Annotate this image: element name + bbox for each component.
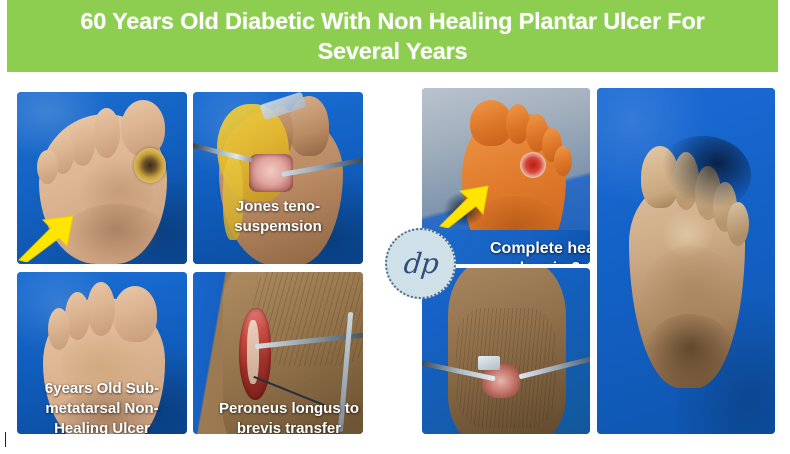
heel-shading xyxy=(645,314,735,388)
photo-peroneus-transfer[interactable]: Peroneus longus to brevis transfer xyxy=(193,272,363,434)
photo-scene xyxy=(193,272,363,434)
photo-scene xyxy=(193,92,363,264)
plantar-ulcer xyxy=(134,148,166,183)
pointer-arrow-icon xyxy=(17,212,83,262)
pointer-arrow-icon xyxy=(438,184,494,228)
photo-scene xyxy=(422,268,590,434)
tendon-strip xyxy=(223,156,243,240)
photo-preop-plantar-ulcer[interactable] xyxy=(17,92,187,264)
toe-fifth xyxy=(727,202,749,246)
toe-second xyxy=(87,282,115,336)
page-title: 60 Years Old Diabetic With Non Healing P… xyxy=(41,6,744,66)
photo-scene xyxy=(597,88,775,434)
image-collage: Jones teno- suspemsion 6years Old Sub- m… xyxy=(0,72,790,454)
tendon-in-wound xyxy=(247,320,259,384)
toe-fifth xyxy=(554,146,572,176)
plantar-ulcer xyxy=(520,152,546,178)
slide-title-banner: 60 Years Old Diabetic With Non Healing P… xyxy=(7,0,778,72)
instrument-fork xyxy=(478,356,500,370)
toe-third xyxy=(70,120,95,166)
toe-shadow-cluster xyxy=(655,136,751,214)
photo-scene xyxy=(17,272,187,434)
photo-betadine-prepped-ulcer[interactable]: Complete healing of ulcer in 2months xyxy=(422,88,590,264)
watermark-monogram: dp xyxy=(402,247,439,280)
toe-great xyxy=(121,100,165,156)
photo-healed-plantar-foot[interactable] xyxy=(597,88,775,434)
photo-jones-teno-suspension[interactable]: Jones teno- suspemsion xyxy=(193,92,363,264)
photo-scene xyxy=(422,88,590,264)
toe-second xyxy=(93,108,120,158)
toe-fourth xyxy=(48,308,70,350)
photo-lower-leg-detail[interactable] xyxy=(422,268,590,434)
toe-fifth xyxy=(37,150,58,184)
watermark-logo: dp xyxy=(385,228,456,299)
photo-six-year-ulcer[interactable]: 6years Old Sub- metatarsal Non- Healing … xyxy=(17,272,187,434)
text-cursor xyxy=(5,432,6,447)
